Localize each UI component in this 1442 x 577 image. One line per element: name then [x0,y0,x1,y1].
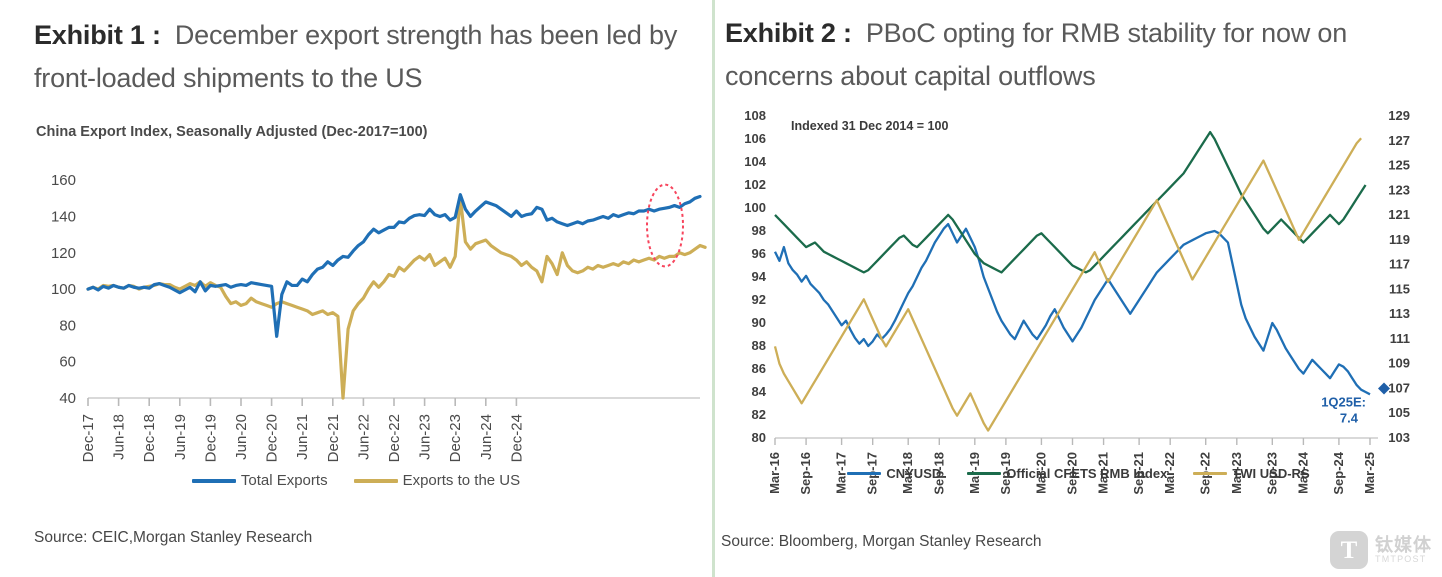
exhibit-1-chart: 406080100120140160Dec-17Jun-18Dec-18Jun-… [0,150,712,410]
tmtpost-watermark: T 钛媒体 TMTPOST [1330,531,1432,569]
x-axis-tick-label: Jun-20 [233,414,250,460]
y-axis-right-tick-label: 127 [1388,133,1410,148]
x-axis-tick-label: Dec-20 [264,414,281,462]
legend-item-cfets: Official CFETS RMB Index [967,466,1167,481]
exhibit-1-source: Source: CEIC,Morgan Stanley Research [34,529,312,547]
legend-item-exports-to-us: Exports to the US [354,472,521,489]
y-axis-left-tick-label: 88 [752,338,766,353]
y-axis-tick-label: 140 [51,208,76,225]
forecast-callout-line1: 1Q25E: [1321,394,1366,409]
y-axis-tick-label: 100 [51,281,76,298]
exhibit-2-panel: Exhibit 2 :PBoC opting for RMB stability… [715,0,1442,577]
y-axis-left-tick-label: 80 [752,430,766,445]
exhibit-2-source: Source: Bloomberg, Morgan Stanley Resear… [721,533,1042,551]
y-axis-tick-label: 120 [51,245,76,262]
x-axis-tick-label: Dec-18 [141,414,158,462]
y-axis-left-tick-label: 86 [752,361,766,376]
chart-annotation: Indexed 31 Dec 2014 = 100 [791,119,948,133]
y-axis-tick-label: 60 [59,354,76,371]
y-axis-left-tick-label: 100 [744,200,766,215]
y-axis-left-tick-label: 94 [752,269,767,284]
x-axis-tick-label: Jun-18 [111,414,128,460]
x-axis-tick-label: Dec-21 [325,414,342,462]
exhibit-1-legend: Total Exports Exports to the US [0,472,712,489]
y-axis-right-tick-label: 103 [1388,430,1410,445]
legend-swatch-total-exports [192,479,236,483]
legend-item-total-exports: Total Exports [192,472,328,489]
exhibit-2-chart: 8082848688909294969810010210410610810310… [715,108,1442,458]
exhibit-1-panel: Exhibit 1 :December export strength has … [0,0,712,577]
tmtpost-logo-letter: T [1341,538,1358,563]
x-axis-tick-label: Jun-21 [294,414,311,460]
exhibit-2-label: Exhibit 2 : [725,18,852,48]
legend-swatch-twi-usd-rs [1193,472,1227,476]
y-axis-left-tick-label: 90 [752,315,766,330]
exhibit-2-legend: CNYUSD Official CFETS RMB Index TWI USD-… [715,466,1442,481]
y-axis-right-tick-label: 111 [1390,331,1410,346]
legend-label-cnyusd: CNYUSD [886,466,941,481]
x-axis-tick-label: Dec-22 [386,414,403,462]
tmtpost-wordmark: 钛媒体 TMTPOST [1375,536,1432,564]
legend-item-twi-usd-rs: TWI USD-RS [1193,466,1309,481]
tmtpost-wordmark-en: TMTPOST [1375,555,1432,564]
series-line-twi-usd-rs [775,138,1361,430]
tmtpost-wordmark-cn: 钛媒体 [1375,536,1432,555]
legend-swatch-cfets [967,472,1001,476]
y-axis-left-tick-label: 82 [752,407,766,422]
series-line-official-cfets-rmb-index [775,132,1366,272]
y-axis-left-tick-label: 108 [744,108,766,123]
y-axis-tick-label: 160 [51,172,76,189]
y-axis-tick-label: 80 [59,317,76,334]
y-axis-left-tick-label: 84 [752,384,767,399]
legend-swatch-cnyusd [847,472,881,476]
x-axis-tick-label: Dec-23 [447,414,464,462]
exhibit-2-title: Exhibit 2 :PBoC opting for RMB stability… [725,12,1425,98]
exhibit-1-subtitle: China Export Index, Seasonally Adjusted … [36,124,428,140]
y-axis-right-tick-label: 105 [1388,405,1410,420]
legend-label-cfets: Official CFETS RMB Index [1006,466,1167,481]
y-axis-right-tick-label: 123 [1388,182,1410,197]
x-axis-tick-label: Jun-22 [355,414,372,460]
y-axis-left-tick-label: 98 [752,223,766,238]
y-axis-right-tick-label: 109 [1388,356,1410,371]
x-axis-tick-label: Jun-23 [417,414,434,460]
x-axis-tick-label: Jun-19 [172,414,189,460]
legend-label-twi-usd-rs: TWI USD-RS [1232,466,1309,481]
legend-label-total-exports: Total Exports [241,472,328,489]
exhibit-1-title: Exhibit 1 :December export strength has … [34,14,694,100]
y-axis-right-tick-label: 115 [1389,281,1410,296]
y-axis-tick-label: 40 [59,390,76,407]
y-axis-left-tick-label: 106 [744,131,766,146]
y-axis-right-tick-label: 121 [1388,207,1410,222]
y-axis-left-tick-label: 96 [752,246,766,261]
y-axis-right-tick-label: 117 [1389,257,1410,272]
y-axis-right-tick-label: 129 [1388,108,1410,123]
legend-label-exports-to-us: Exports to the US [403,472,521,489]
legend-swatch-exports-to-us [354,479,398,483]
tmtpost-logo-icon: T [1330,531,1368,569]
series-line-exports-to-the-us [88,198,705,398]
y-axis-left-tick-label: 104 [744,154,766,169]
forecast-callout-line2: 7.4 [1340,410,1359,425]
y-axis-left-tick-label: 102 [744,177,766,192]
x-axis-tick-label: Jun-24 [478,414,495,460]
x-axis-tick-label: Dec-24 [508,414,525,462]
x-axis-tick-label: Dec-17 [80,414,97,462]
exhibit-1-label: Exhibit 1 : [34,20,161,50]
y-axis-right-tick-label: 125 [1388,158,1410,173]
exhibits-page: Exhibit 1 :December export strength has … [0,0,1442,577]
y-axis-right-tick-label: 113 [1389,306,1410,321]
y-axis-left-tick-label: 92 [752,292,766,307]
legend-item-cnyusd: CNYUSD [847,466,941,481]
y-axis-right-tick-label: 119 [1389,232,1410,247]
series-line-cnyusd [775,224,1370,394]
y-axis-right-tick-label: 107 [1388,380,1410,395]
x-axis-tick-label: Dec-19 [202,414,219,462]
